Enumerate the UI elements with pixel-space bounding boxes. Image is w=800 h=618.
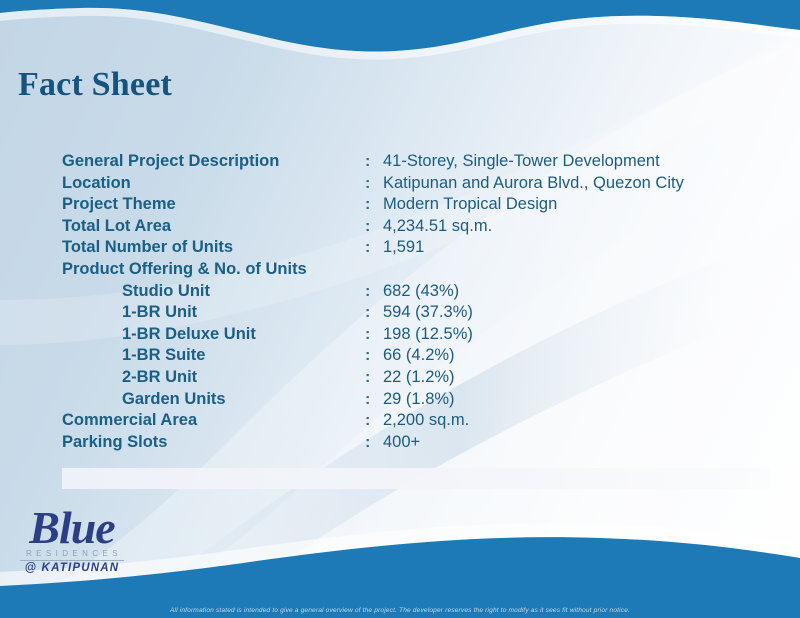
brand-logo: Blue RESIDENCES @ KATIPUNAN (2, 505, 142, 593)
fact-value: 400+ (383, 433, 783, 452)
fact-row: Total Number of Units:1,591 (62, 238, 782, 260)
fact-row: 1-BR Deluxe Unit:198 (12.5%) (62, 325, 782, 347)
fact-label-cell: Product Offering & No. of Units (62, 260, 365, 279)
fact-label-cell: Studio Unit (62, 282, 365, 301)
fact-separator: : (365, 326, 383, 344)
logo-divider (20, 560, 124, 561)
fact-value: 198 (12.5%) (383, 325, 783, 344)
fact-value: Katipunan and Aurora Blvd., Quezon City (383, 174, 783, 193)
fact-label: Product Offering & No. of Units (62, 260, 307, 278)
fact-value: 29 (1.8%) (383, 390, 783, 409)
fact-label: 2-BR Unit (62, 368, 197, 386)
footer-disclaimer: All information stated is intended to gi… (0, 607, 800, 614)
fact-row: General Project Description:41-Storey, S… (62, 152, 782, 174)
fact-separator: : (365, 283, 383, 301)
fact-label-cell: Parking Slots (62, 433, 365, 452)
fact-label-cell: 2-BR Unit (62, 368, 365, 387)
fact-label-cell: Project Theme (62, 195, 365, 214)
fact-value: 66 (4.2%) (383, 346, 783, 365)
fact-value: 4,234.51 sq.m. (383, 217, 783, 236)
fact-label-cell: Location (62, 174, 365, 193)
fact-label-cell: 1-BR Unit (62, 303, 365, 322)
fact-row: Commercial Area:2,200 sq.m. (62, 411, 782, 433)
slide-canvas: Fact Sheet General Project Description:4… (0, 0, 800, 618)
fact-separator: : (365, 412, 383, 430)
fact-separator: : (365, 391, 383, 409)
fact-separator: : (365, 196, 383, 214)
logo-subtitle-text: RESIDENCES (2, 549, 142, 558)
logo-brand-text: Blue (2, 505, 142, 551)
fact-row: Total Lot Area:4,234.51 sq.m. (62, 217, 782, 239)
fact-value: 2,200 sq.m. (383, 411, 783, 430)
fact-separator: : (365, 239, 383, 257)
fact-row: Location:Katipunan and Aurora Blvd., Que… (62, 174, 782, 196)
fact-separator: : (365, 434, 383, 452)
fact-label-cell: Total Number of Units (62, 238, 365, 257)
fact-label: 1-BR Unit (62, 303, 197, 321)
fact-label-cell: General Project Description (62, 152, 365, 171)
fact-row: Garden Units:29 (1.8%) (62, 390, 782, 412)
fact-label-cell: Garden Units (62, 390, 365, 409)
fact-label: 1-BR Deluxe Unit (62, 325, 256, 343)
fact-separator: : (365, 304, 383, 322)
fact-value: 682 (43%) (383, 282, 783, 301)
fact-separator: : (365, 153, 383, 171)
fact-row: 2-BR Unit:22 (1.2%) (62, 368, 782, 390)
fact-label: Location (62, 174, 131, 192)
fact-label-cell: 1-BR Deluxe Unit (62, 325, 365, 344)
fact-row: Parking Slots:400+ (62, 433, 782, 455)
page-title: Fact Sheet (18, 66, 172, 104)
fact-separator: : (365, 347, 383, 365)
fact-separator: : (365, 369, 383, 387)
fact-label: Commercial Area (62, 411, 197, 429)
fact-row: Project Theme:Modern Tropical Design (62, 195, 782, 217)
fact-value: 594 (37.3%) (383, 303, 783, 322)
fact-row: Studio Unit:682 (43%) (62, 282, 782, 304)
fact-label-cell: Commercial Area (62, 411, 365, 430)
fact-label: Garden Units (62, 390, 226, 408)
fact-label: General Project Description (62, 152, 279, 170)
fact-label: Total Lot Area (62, 217, 171, 235)
fact-label: 1-BR Suite (62, 346, 205, 364)
fact-separator: : (365, 175, 383, 193)
fact-sheet-table: General Project Description:41-Storey, S… (62, 152, 782, 454)
fact-row: 1-BR Unit:594 (37.3%) (62, 303, 782, 325)
fact-row: 1-BR Suite:66 (4.2%) (62, 346, 782, 368)
fact-label-cell: 1-BR Suite (62, 346, 365, 365)
fact-label: Total Number of Units (62, 238, 233, 256)
fact-label: Project Theme (62, 195, 176, 213)
logo-location-text: @ KATIPUNAN (2, 562, 142, 574)
fact-value: Modern Tropical Design (383, 195, 783, 214)
fact-value: 22 (1.2%) (383, 368, 783, 387)
fact-label: Parking Slots (62, 433, 167, 451)
fact-row: Product Offering & No. of Units (62, 260, 782, 282)
fact-label-cell: Total Lot Area (62, 217, 365, 236)
fact-separator: : (365, 218, 383, 236)
fact-label: Studio Unit (62, 282, 210, 300)
top-wave-decoration (0, 0, 800, 70)
fact-value: 41-Storey, Single-Tower Development (383, 152, 783, 171)
fact-value: 1,591 (383, 238, 783, 257)
empty-text-placeholder (62, 468, 770, 489)
